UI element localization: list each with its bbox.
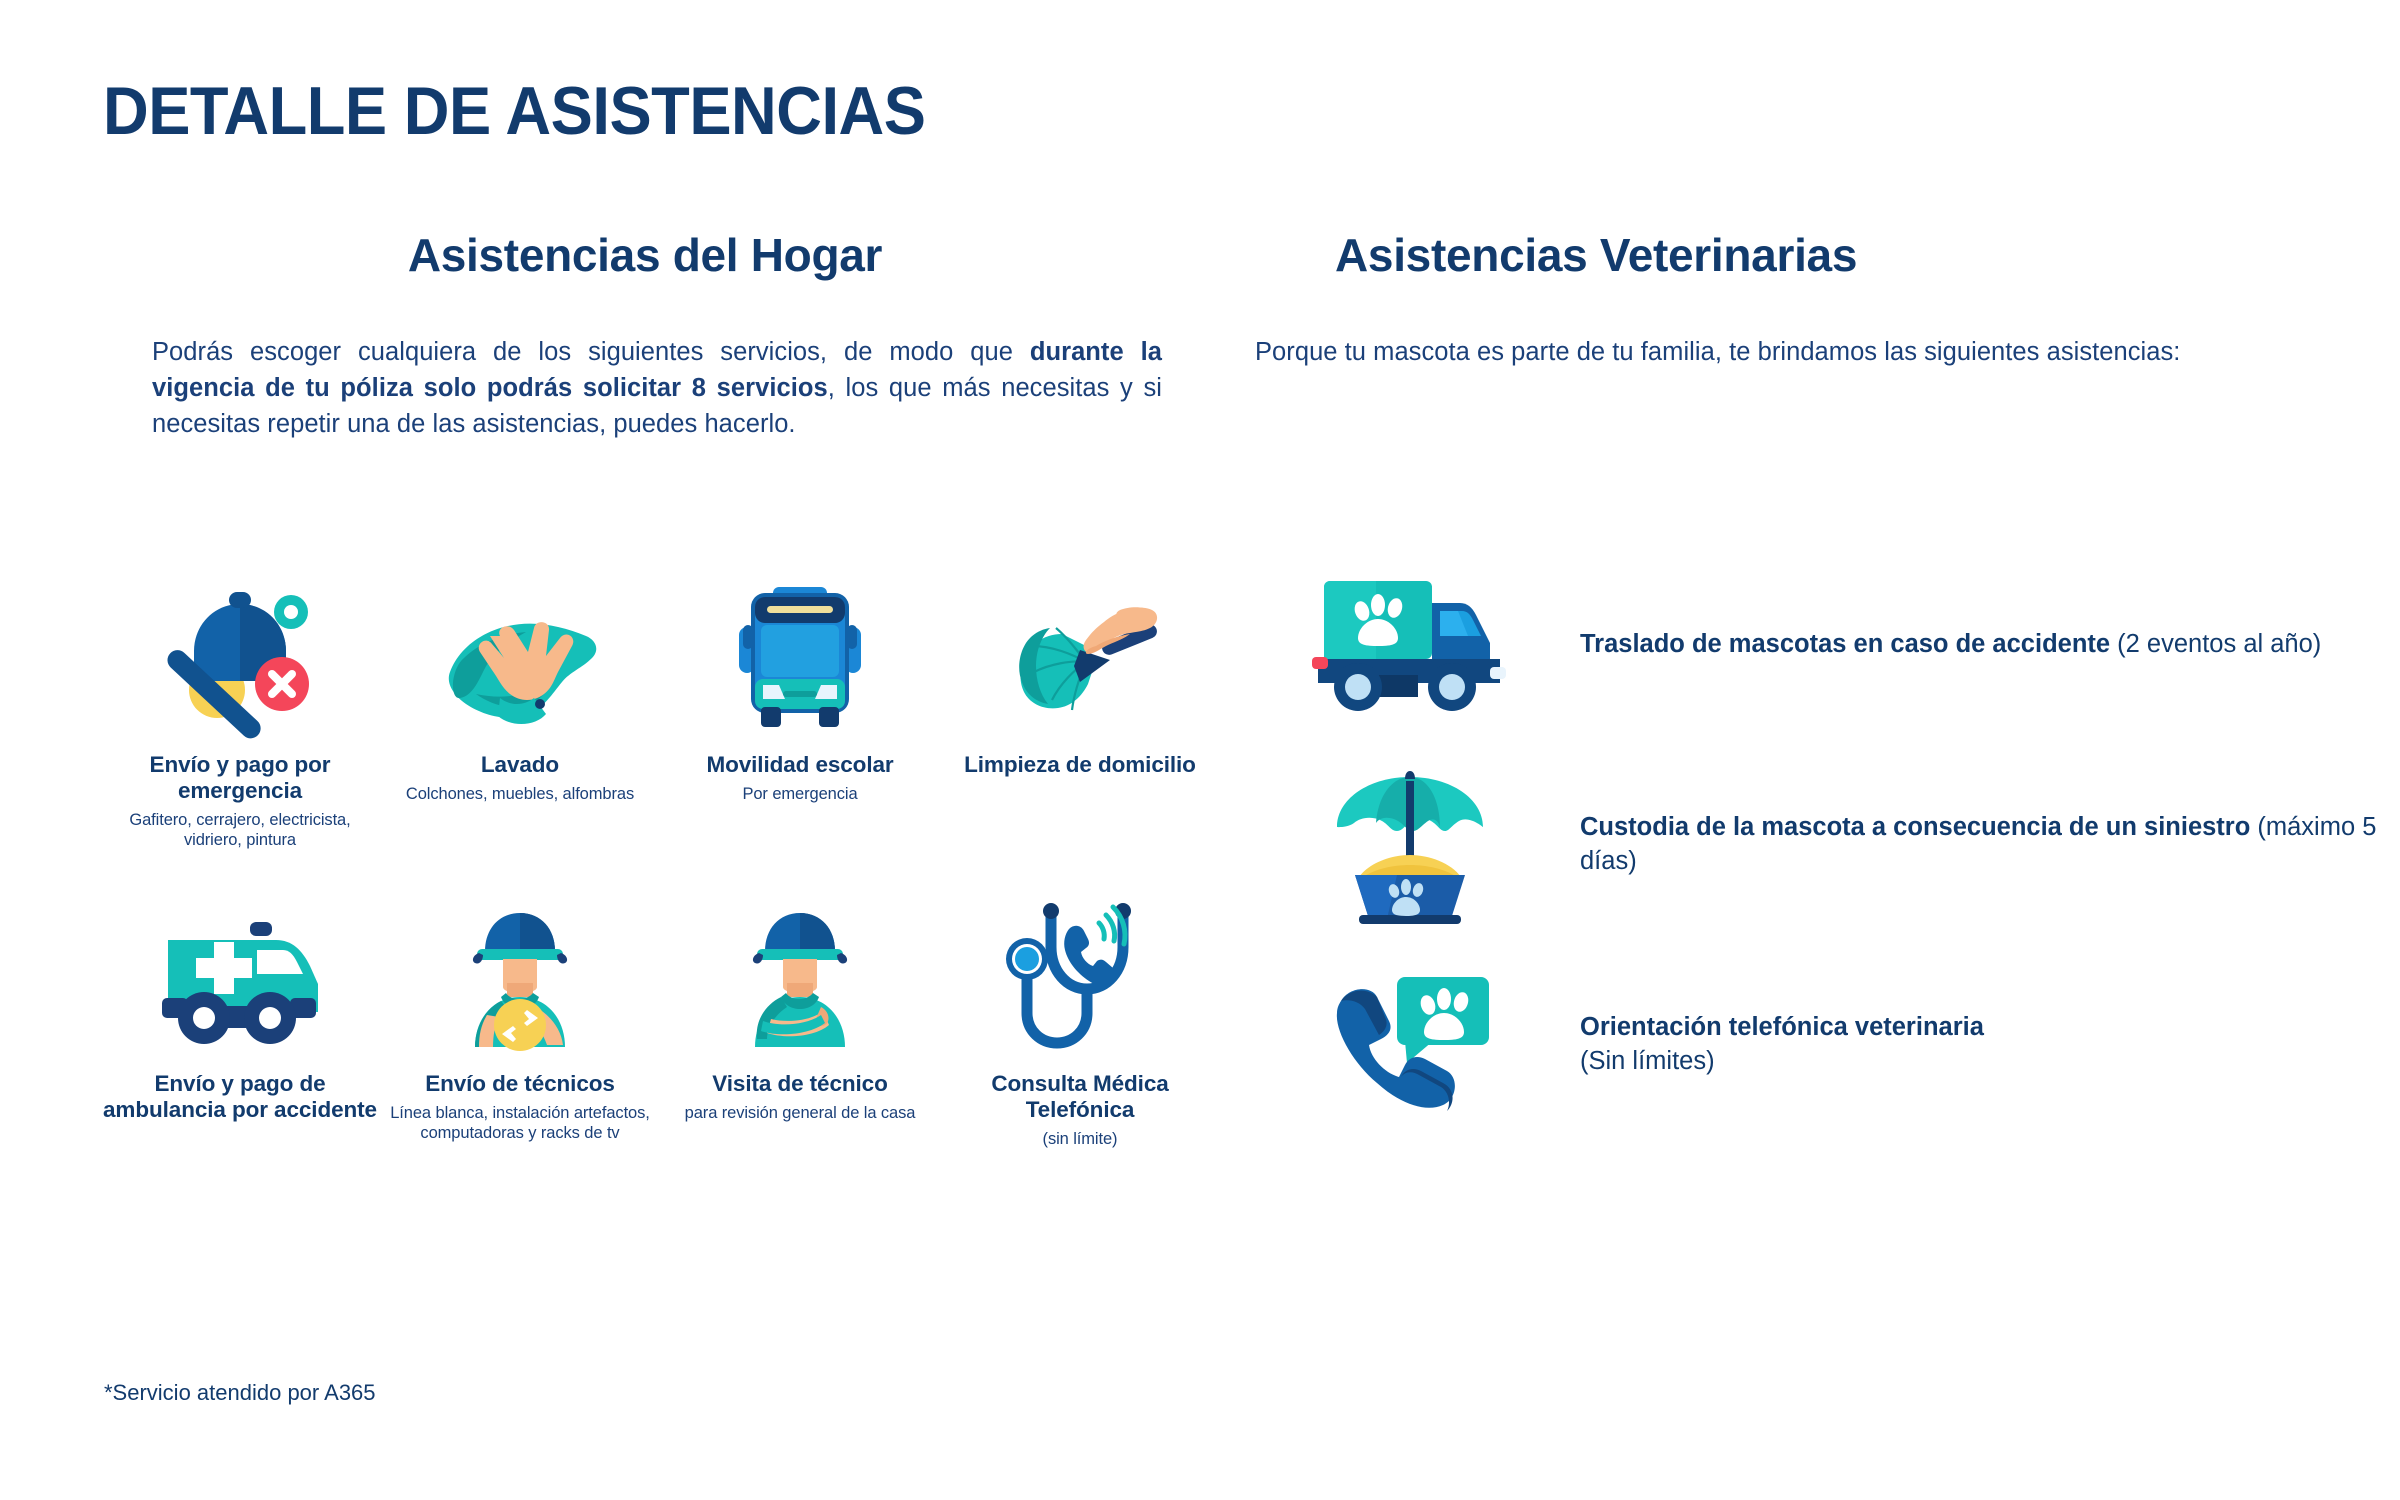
hand-cloth-icon [380,580,660,730]
service-card-envio-tecnicos[interactable]: Envío de técnicos Línea blanca, instalac… [380,899,660,1150]
service-sublabel: Línea blanca, instalación artefactos, co… [380,1104,660,1144]
vet-item-text: Traslado de mascotas en caso de accident… [1530,628,2321,662]
service-sublabel: Colchones, muebles, alfombras [406,785,634,805]
vet-item-normal: (2 eventos al año) [2110,630,2321,658]
vet-section-title: Asistencias Veterinarias [1255,228,2335,282]
vet-item-text: Custodia de la mascota a consecuencia de… [1530,811,2380,879]
home-intro-paragraph: Podrás escoger cualquiera de los siguien… [100,334,1210,443]
home-section-title: Asistencias del Hogar [100,228,1210,282]
home-intro-part1: Podrás escoger cualquiera de los siguien… [152,338,1030,366]
technician-icon [660,899,940,1049]
phone-paw-chat-icon [1290,965,1530,1125]
vet-column: Asistencias Veterinarias Porque tu masco… [1255,228,2335,370]
service-label: Envío de técnicos [425,1071,615,1097]
bus-icon [660,580,940,730]
home-services-grid: Envío y pago por emergencia Gafitero, ce… [100,580,1220,1150]
vet-item-normal: (Sin límites) [1580,1047,1715,1075]
vet-services-list: Traslado de mascotas en caso de accident… [1290,545,2380,1145]
service-label: Consulta Médica Telefónica [940,1071,1220,1123]
ambulance-icon [100,899,380,1049]
vet-item-orientacion-telefonica[interactable]: Orientación telefónica veterinaria(Sin l… [1290,945,2380,1145]
service-card-limpieza-domicilio[interactable]: Limpieza de domicilio [940,580,1220,851]
service-sublabel: (sin límite) [1043,1130,1118,1150]
page-title: DETALLE DE ASISTENCIAS [103,72,925,150]
service-label: Lavado [481,752,559,778]
feather-duster-icon [940,580,1220,730]
infographic-page: DETALLE DE ASISTENCIAS Asistencias del H… [0,0,2400,1500]
service-card-visita-tecnico[interactable]: Visita de técnico para revisión general … [660,899,940,1150]
service-card-envio-pago-emergencia[interactable]: Envío y pago por emergencia Gafitero, ce… [100,580,380,851]
vet-intro-paragraph: Porque tu mascota es parte de tu familia… [1255,334,2335,370]
home-column: Asistencias del Hogar Podrás escoger cua… [100,228,1210,443]
service-sublabel: Por emergencia [742,785,857,805]
stethoscope-phone-icon [940,899,1220,1049]
service-sublabel: Gafitero, cerrajero, electricista, vidri… [100,811,380,851]
pet-transport-truck-icon [1290,575,1530,715]
service-card-lavado[interactable]: Lavado Colchones, muebles, alfombras [380,580,660,851]
technician-swap-icon [380,899,660,1049]
vet-item-bold: Custodia de la mascota a consecuencia de… [1580,813,2250,841]
vet-item-bold: Traslado de mascotas en caso de accident… [1580,630,2110,658]
vet-item-traslado-mascotas[interactable]: Traslado de mascotas en caso de accident… [1290,545,2380,745]
service-sublabel: para revisión general de la casa [685,1104,916,1124]
service-label: Envío y pago por emergencia [100,752,380,804]
service-label: Movilidad escolar [706,752,893,778]
vet-item-custodia-mascota[interactable]: Custodia de la mascota a consecuencia de… [1290,745,2380,945]
footnote: *Servicio atendido por A365 [104,1380,376,1406]
service-label: Envío y pago de ambulancia por accidente [100,1071,380,1123]
service-card-ambulancia[interactable]: Envío y pago de ambulancia por accidente [100,899,380,1150]
vet-item-text: Orientación telefónica veterinaria(Sin l… [1530,1011,1984,1079]
umbrella-pet-bowl-icon [1290,765,1530,925]
service-card-consulta-medica[interactable]: Consulta Médica Telefónica (sin límite) [940,899,1220,1150]
vet-item-bold: Orientación telefónica veterinaria [1580,1013,1984,1041]
service-label: Visita de técnico [712,1071,887,1097]
service-label: Limpieza de domicilio [964,752,1196,778]
bell-alert-icon [100,580,380,730]
service-card-movilidad-escolar[interactable]: Movilidad escolar Por emergencia [660,580,940,851]
